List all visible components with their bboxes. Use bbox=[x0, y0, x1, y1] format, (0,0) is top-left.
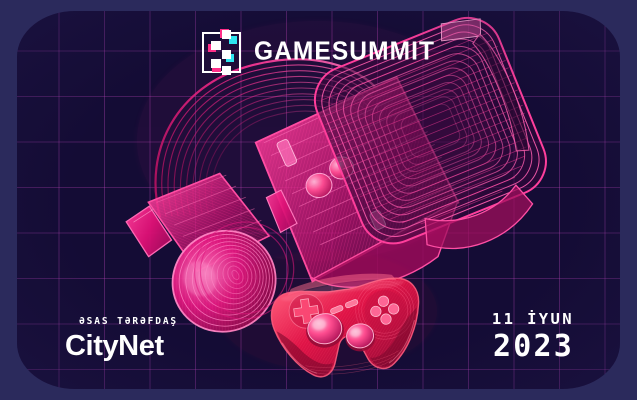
logo-block-3 bbox=[222, 50, 231, 59]
partner-name: CityNet bbox=[65, 332, 178, 361]
event-date-year: 2023 bbox=[492, 332, 574, 362]
logo-block-2 bbox=[211, 41, 221, 50]
logo-block-1 bbox=[222, 30, 231, 39]
brand-lockup: GAMESUMMIT bbox=[17, 32, 620, 73]
gamesummit-logo-icon bbox=[202, 32, 241, 73]
partner-block: ƏSAS TƏRƏFDAŞ CityNet bbox=[65, 317, 178, 362]
event-date-day: 11 İYUN bbox=[492, 312, 574, 328]
crt-screen: GAMESUMMIT ƏSAS TƏRƏFDAŞ CityNet 11 İYUN… bbox=[17, 11, 620, 389]
logo-block-5 bbox=[222, 66, 231, 75]
partner-label: ƏSAS TƏRƏFDAŞ bbox=[79, 317, 178, 327]
logo-block-4 bbox=[211, 59, 221, 68]
gamesummit-wordmark: GAMESUMMIT bbox=[254, 40, 435, 66]
event-date-block: 11 İYUN 2023 bbox=[492, 312, 574, 363]
event-banner: GAMESUMMIT ƏSAS TƏRƏFDAŞ CityNet 11 İYUN… bbox=[0, 0, 637, 400]
